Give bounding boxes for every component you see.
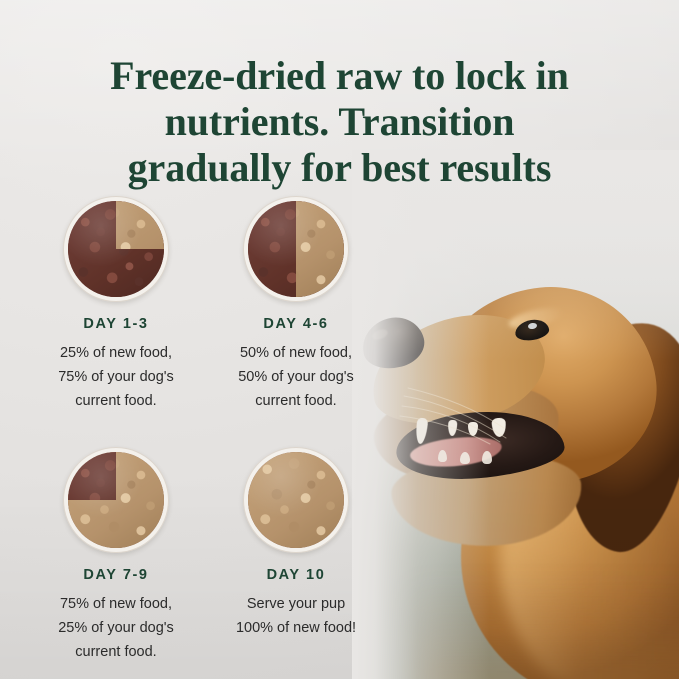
food-bowl-day-7-9 xyxy=(63,447,169,553)
transition-steps: DAY 1-3 25% of new food, 75% of your dog… xyxy=(26,196,386,664)
infographic-page: Freeze-dried raw to lock in nutrients. T… xyxy=(0,0,679,679)
desc-line: 75% of new food, xyxy=(26,592,206,616)
bowl-contents xyxy=(68,452,164,548)
desc-line: 25% of new food, xyxy=(26,341,206,365)
step-description: 75% of new food, 25% of your dog's curre… xyxy=(26,592,206,664)
step-day-10: DAY 10 Serve your pup 100% of new food! xyxy=(206,447,386,664)
page-title: Freeze-dried raw to lock in nutrients. T… xyxy=(0,53,679,191)
bowl-wrapper xyxy=(26,447,206,559)
desc-line: 25% of your dog's xyxy=(26,616,206,640)
food-bowl-day-4-6 xyxy=(243,196,349,302)
headline-line-3: gradually for best results xyxy=(58,145,621,191)
step-day-1-3: DAY 1-3 25% of new food, 75% of your dog… xyxy=(26,196,206,413)
bowl-contents xyxy=(248,452,344,548)
bowl-contents xyxy=(248,201,344,297)
food-bowl-day-10 xyxy=(243,447,349,553)
desc-line: Serve your pup xyxy=(206,592,386,616)
day-label: DAY 1-3 xyxy=(26,316,206,332)
desc-line: 75% of your dog's xyxy=(26,365,206,389)
steps-row-top: DAY 1-3 25% of new food, 75% of your dog… xyxy=(26,196,386,413)
bowl-wrapper xyxy=(206,196,386,308)
bowl-wrapper xyxy=(26,196,206,308)
kibble-new-food xyxy=(248,452,344,548)
headline-line-2: nutrients. Transition xyxy=(58,99,621,145)
desc-line: 100% of new food! xyxy=(206,616,386,640)
desc-line: 50% of your dog's xyxy=(206,365,386,389)
desc-line: current food. xyxy=(206,389,386,413)
row-spacer xyxy=(26,413,386,447)
day-label: DAY 4-6 xyxy=(206,316,386,332)
step-description: 25% of new food, 75% of your dog's curre… xyxy=(26,341,206,413)
desc-line: 50% of new food, xyxy=(206,341,386,365)
bowl-contents xyxy=(68,201,164,297)
food-bowl-day-1-3 xyxy=(63,196,169,302)
headline-line-1: Freeze-dried raw to lock in xyxy=(58,53,621,99)
step-day-4-6: DAY 4-6 50% of new food, 50% of your dog… xyxy=(206,196,386,413)
steps-row-bottom: DAY 7-9 75% of new food, 25% of your dog… xyxy=(26,447,386,664)
bowl-wrapper xyxy=(206,447,386,559)
step-day-7-9: DAY 7-9 75% of new food, 25% of your dog… xyxy=(26,447,206,664)
day-label: DAY 10 xyxy=(206,567,386,583)
step-description: 50% of new food, 50% of your dog's curre… xyxy=(206,341,386,413)
desc-line: current food. xyxy=(26,389,206,413)
step-description: Serve your pup 100% of new food! xyxy=(206,592,386,640)
day-label: DAY 7-9 xyxy=(26,567,206,583)
desc-line: current food. xyxy=(26,640,206,664)
